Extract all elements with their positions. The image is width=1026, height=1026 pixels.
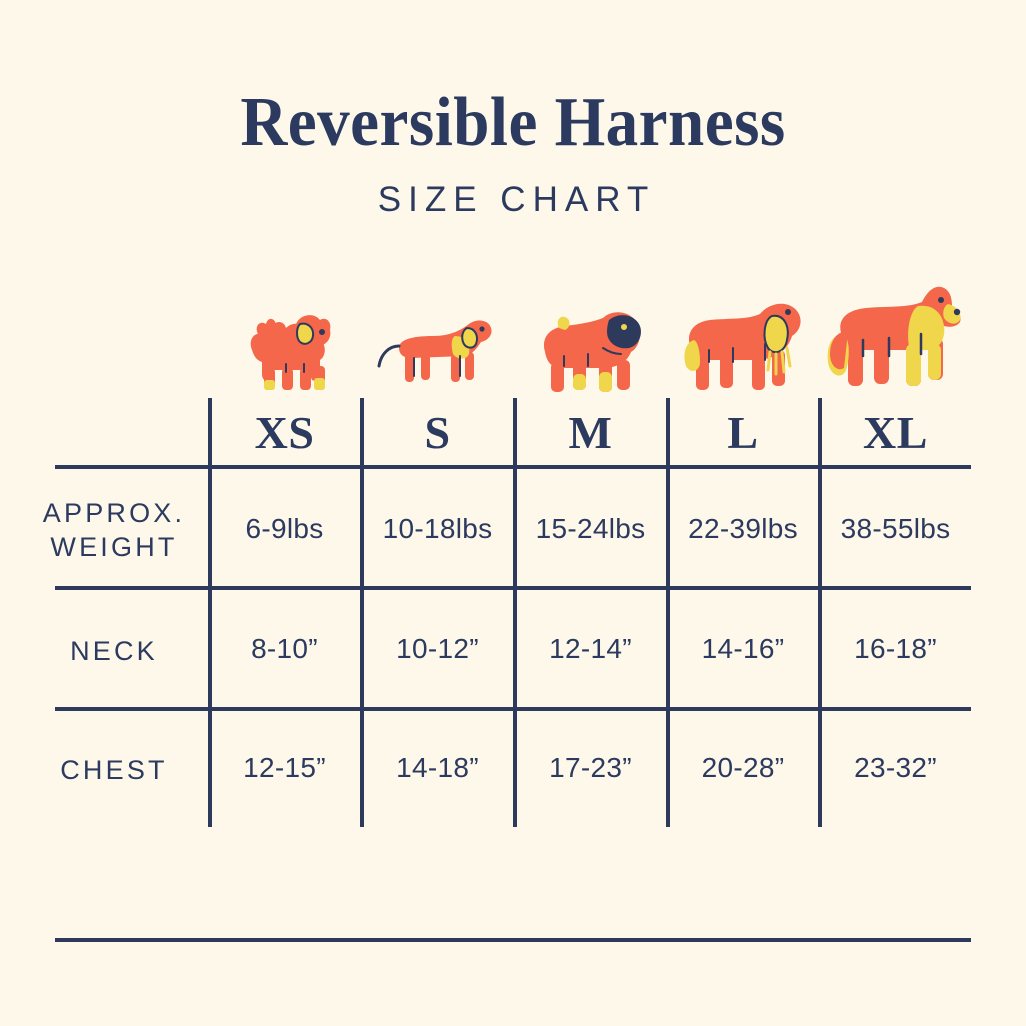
column-header-s: S bbox=[361, 404, 514, 462]
dog-muzzle-mask bbox=[607, 315, 641, 348]
dog-cell-m bbox=[513, 298, 666, 398]
pug-dog-icon bbox=[531, 300, 649, 398]
dog-cell-s bbox=[360, 302, 513, 398]
cell-neck-xl: 16-18” bbox=[819, 632, 972, 666]
cell-weight-xl: 38-55lbs bbox=[819, 512, 972, 546]
dog-eye bbox=[319, 329, 325, 335]
cell-chest-xl: 23-32” bbox=[819, 751, 972, 785]
grid-hline-bottom bbox=[55, 938, 971, 942]
page-subtitle: SIZE CHART bbox=[0, 180, 1026, 220]
column-header-xs: XS bbox=[208, 404, 361, 462]
cell-neck-m: 12-14” bbox=[514, 632, 667, 666]
row-label-chest: CHEST bbox=[20, 753, 205, 787]
dog-cell-xs bbox=[208, 302, 360, 398]
cell-chest-s: 14-18” bbox=[361, 751, 514, 785]
dog-eye bbox=[621, 324, 627, 330]
cell-chest-l: 20-28” bbox=[667, 751, 819, 785]
chart-header: Reversible Harness SIZE CHART bbox=[0, 84, 1026, 220]
row-label-line-1: APPROX. bbox=[23, 496, 205, 530]
cell-chest-xs: 12-15” bbox=[208, 751, 361, 785]
dachshund-dog-icon bbox=[377, 314, 497, 398]
row-label-neck: NECK bbox=[20, 634, 205, 668]
cell-neck-s: 10-12” bbox=[361, 632, 514, 666]
dog-eye bbox=[785, 309, 791, 315]
column-header-l: L bbox=[667, 404, 819, 462]
cell-weight-l: 22-39lbs bbox=[667, 512, 819, 546]
size-chart-page: Reversible Harness SIZE CHART bbox=[0, 0, 1026, 1026]
row-label-line-2: WEIGHT bbox=[23, 530, 205, 564]
row-label-approx-weight: APPROX. WEIGHT bbox=[20, 496, 205, 564]
cell-neck-l: 14-16” bbox=[667, 632, 819, 666]
cell-weight-m: 15-24lbs bbox=[514, 512, 667, 546]
cell-weight-s: 10-18lbs bbox=[361, 512, 514, 546]
row-label-line-1: CHEST bbox=[23, 753, 205, 787]
dog-nose bbox=[954, 309, 960, 315]
collie-dog-icon bbox=[824, 282, 966, 398]
column-header-xl: XL bbox=[819, 404, 972, 462]
spaniel-dog-icon bbox=[680, 292, 806, 398]
column-header-m: M bbox=[514, 404, 667, 462]
row-label-line-1: NECK bbox=[23, 634, 205, 668]
page-title: Reversible Harness bbox=[36, 84, 990, 162]
cell-weight-xs: 6-9lbs bbox=[208, 512, 361, 546]
dog-cell-xl bbox=[819, 280, 971, 398]
dog-eye bbox=[479, 326, 484, 331]
pomeranian-dog-icon bbox=[234, 306, 334, 398]
cell-chest-m: 17-23” bbox=[514, 751, 667, 785]
dog-cell-l bbox=[666, 290, 819, 398]
cell-neck-xs: 8-10” bbox=[208, 632, 361, 666]
dog-illustration-row bbox=[208, 280, 971, 398]
dog-eye bbox=[938, 297, 944, 303]
